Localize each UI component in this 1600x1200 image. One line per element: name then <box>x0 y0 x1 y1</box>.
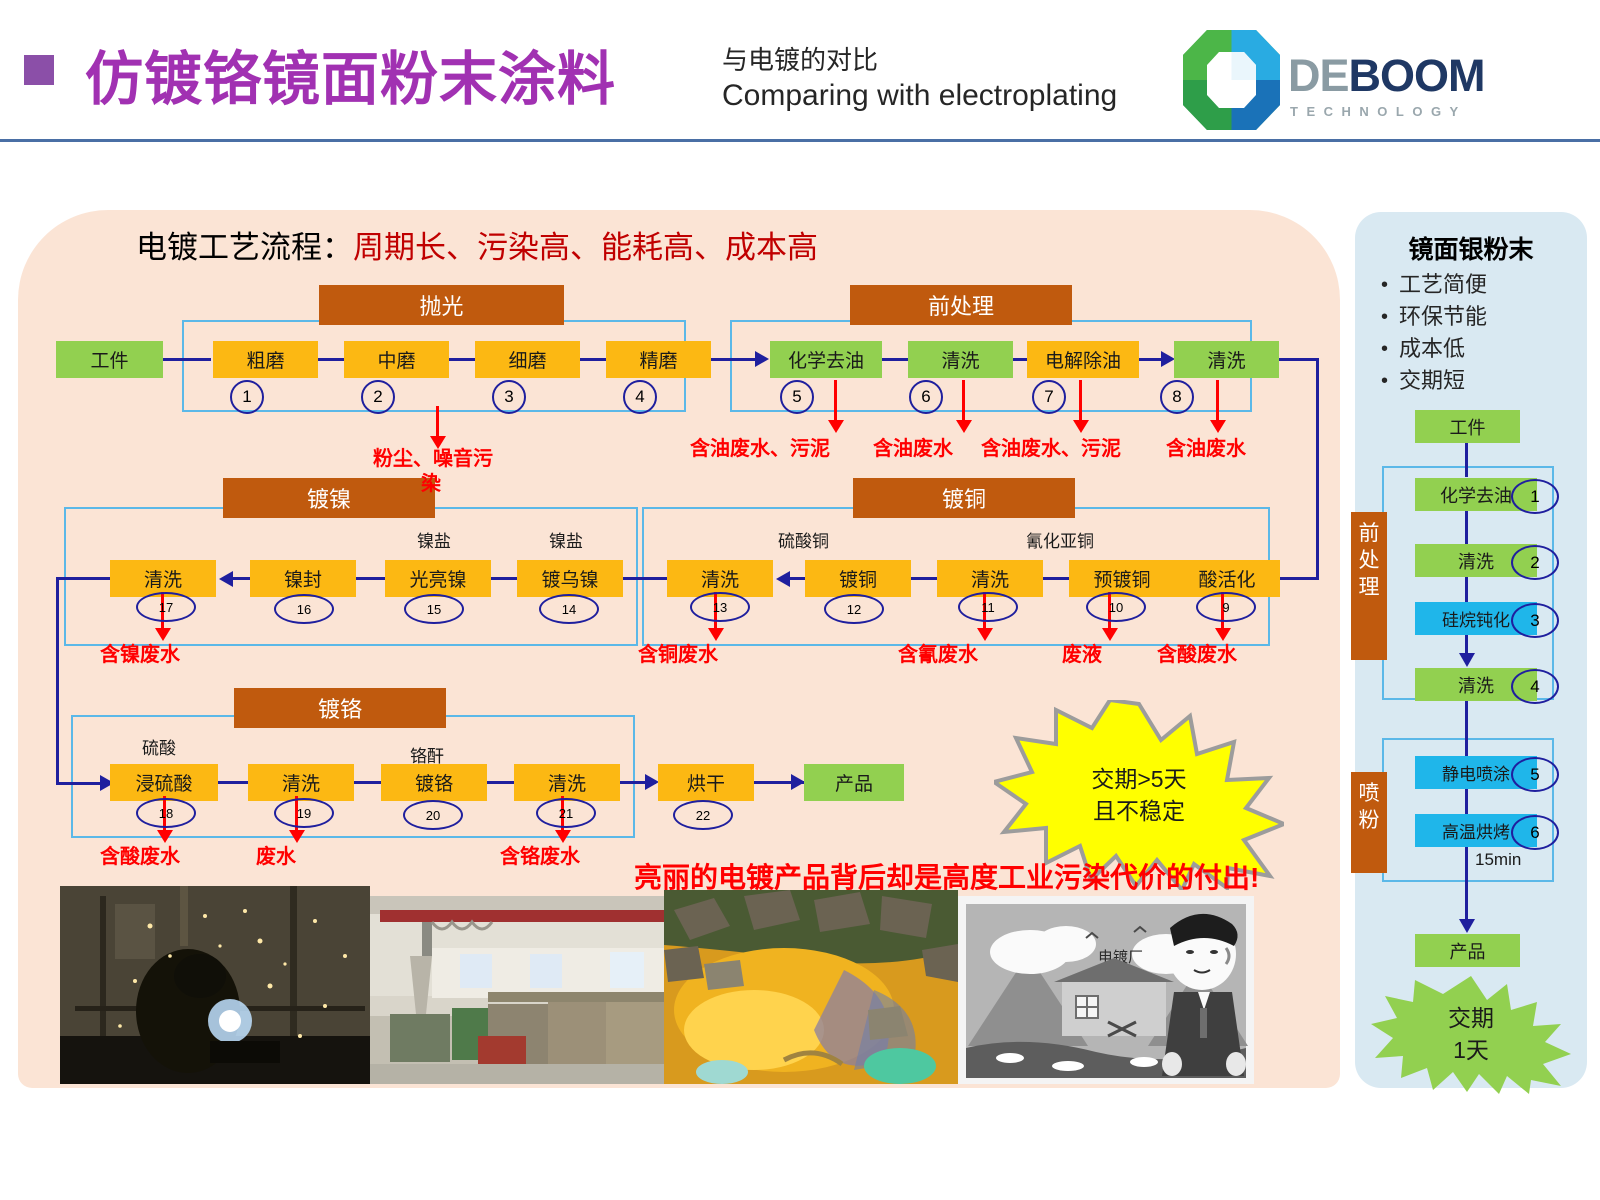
slide-header: 仿镀铬镜面粉末涂料 与电镀的对比 Comparing with electrop… <box>0 0 1600 143</box>
list-item: •环保节能 <box>1381 302 1581 332</box>
bullet-icon: • <box>1381 334 1399 364</box>
chem-label-cuprous-cyanide: 氰化亚铜 <box>1026 527 1094 552</box>
flow-node-5[interactable]: 化学去油 <box>770 341 882 378</box>
connector-polish-to-pretreat <box>711 358 759 361</box>
sidebar-bullet-1: 环保节能 <box>1399 302 1487 332</box>
arrow-7-8 <box>1161 351 1175 367</box>
copper-group-header: 镀铜 <box>853 478 1075 518</box>
connector-10-11 <box>1043 577 1070 580</box>
sidebar-step-number-4: 4 <box>1511 669 1559 704</box>
delivery-warning-line1: 交期>5天 <box>1091 763 1186 795</box>
panel-title-red: 周期长、污染高、能耗高、成本高 <box>353 230 818 265</box>
waste-arrow-5 <box>828 420 844 433</box>
step-number-18: 18 <box>136 798 196 828</box>
bullet-icon: • <box>1381 302 1399 332</box>
sidebar-advantages-list: •工艺简便 •环保节能 •成本低 •交期短 <box>1381 270 1581 398</box>
waste-line-6 <box>962 380 965 422</box>
subtitle-block: 与电镀的对比 Comparing with electroplating <box>722 44 1117 115</box>
step-number-3: 3 <box>492 380 526 414</box>
waste-label-8: 含油废水 <box>1166 432 1246 461</box>
sidebar-bullet-0: 工艺简便 <box>1399 270 1487 300</box>
arrow-polish-to-pretreat <box>755 351 769 367</box>
step-number-6: 6 <box>909 380 943 414</box>
waste-label-11: 含氰废水 <box>898 638 978 667</box>
subtitle-chinese: 与电镀的对比 <box>722 44 1117 77</box>
sb-connector-4-5 <box>1465 701 1468 763</box>
sb-arrow-3-4 <box>1459 653 1475 667</box>
list-item: •工艺简便 <box>1381 270 1581 300</box>
flow-node-6[interactable]: 清洗 <box>908 341 1013 378</box>
waste-label-13: 含铜废水 <box>638 638 718 667</box>
step-number-9: 9 <box>1196 592 1256 622</box>
waste-arrow-6 <box>956 420 972 433</box>
deboom-logo: DEBOOM TECHNOLOGY <box>1183 28 1533 133</box>
list-item: •交期短 <box>1381 366 1581 396</box>
logo-de-text: DE <box>1288 50 1349 101</box>
connector-3-4 <box>580 358 606 361</box>
bullet-icon: • <box>1381 270 1399 300</box>
wrap-vert-r1 <box>1316 358 1319 580</box>
sidebar-delivery-star-line1: 交期 <box>1448 1002 1494 1034</box>
flow-node-7[interactable]: 电解除油 <box>1027 341 1139 378</box>
sidebar-step-number-3: 3 <box>1511 603 1559 638</box>
waste-label-21: 含铬废水 <box>500 840 580 869</box>
sb-connector-6-product <box>1465 847 1468 923</box>
step-number-1: 1 <box>230 380 264 414</box>
deboom-logo-mark <box>1183 30 1280 130</box>
sidebar-flow-node-workpiece[interactable]: 工件 <box>1415 410 1520 443</box>
flow-node-20[interactable]: 镀铬 <box>381 764 487 801</box>
connector-15-16 <box>356 577 386 580</box>
chem-label-sulfuric-acid: 硫酸 <box>142 734 176 759</box>
subtitle-english: Comparing with electroplating <box>722 77 1117 115</box>
welding-worker-photo <box>60 886 370 1084</box>
flow-node-19[interactable]: 清洗 <box>248 764 354 801</box>
connector-2-3 <box>449 358 475 361</box>
sidebar-bake-time-label: 15min <box>1475 850 1521 870</box>
step-number-22: 22 <box>673 800 733 830</box>
panel-title-black: 电镀工艺流程： <box>136 230 353 265</box>
flow-node-12[interactable]: 镀铜 <box>805 560 911 597</box>
logo-technology-text: TECHNOLOGY <box>1290 104 1467 119</box>
connector-20-21 <box>487 781 515 784</box>
flow-node-workpiece-start[interactable]: 工件 <box>56 341 163 378</box>
chem-label-nickel-salt-1: 镍盐 <box>417 527 451 552</box>
title-bullet-icon <box>24 55 54 85</box>
flow-node-8[interactable]: 清洗 <box>1174 341 1279 378</box>
sidebar-step-number-2: 2 <box>1511 545 1559 580</box>
waste-label-18: 含酸废水 <box>100 840 180 869</box>
connector-16-17 <box>231 577 251 580</box>
electroplating-cartoon-photo: 电镀厂 <box>958 896 1254 1084</box>
waste-line-8 <box>1216 380 1219 422</box>
waste-line-5 <box>834 380 837 422</box>
sidebar-delivery-star: 交期 1天 <box>1371 974 1571 1094</box>
header-divider <box>0 139 1600 142</box>
connector-5-6 <box>882 358 908 361</box>
sb-arrow-6-product <box>1459 919 1475 933</box>
sidebar-step-number-1: 1 <box>1511 479 1559 514</box>
wrap-bottom-r2 <box>56 782 104 785</box>
polish-group-header: 抛光 <box>319 285 564 325</box>
step-number-21: 21 <box>536 798 596 828</box>
connector-18-19 <box>218 781 250 784</box>
connector-13-14 <box>623 577 667 580</box>
flow-node-16[interactable]: 镍封 <box>250 560 356 597</box>
step-number-11: 11 <box>958 592 1018 622</box>
flow-node-3[interactable]: 细磨 <box>475 341 580 378</box>
step-number-13: 13 <box>690 592 750 622</box>
polluted-waste-ground-photo <box>664 890 958 1084</box>
sidebar-delivery-star-line2: 1天 <box>1448 1034 1494 1066</box>
plating-tanks-workshop-photo <box>370 896 664 1084</box>
waste-label-dust-2: 染 <box>421 467 441 496</box>
sidebar-pretreat-group-header: 前处理 <box>1351 512 1387 660</box>
step-number-7: 7 <box>1032 380 1066 414</box>
flow-node-21[interactable]: 清洗 <box>514 764 620 801</box>
flow-node-product[interactable]: 产品 <box>804 764 904 801</box>
sidebar-title: 镜面银粉末 <box>1355 230 1587 266</box>
connector-11-12 <box>911 577 938 580</box>
waste-label-19: 废水 <box>256 840 296 869</box>
wrap-vert-r2 <box>56 577 59 785</box>
nickel-group-header: 镀镍 <box>223 478 435 518</box>
step-number-8: 8 <box>1160 380 1194 414</box>
waste-line-7 <box>1079 380 1082 422</box>
step-number-19: 19 <box>274 798 334 828</box>
wrap-top-r2 <box>56 577 111 580</box>
sidebar-delivery-star-text: 交期 1天 <box>1448 1002 1494 1066</box>
sidebar-step-number-5: 5 <box>1511 757 1559 792</box>
waste-label-6: 含油废水 <box>873 432 953 461</box>
sb-connector-5-6 <box>1465 789 1468 816</box>
chrome-group-header: 镀铬 <box>234 688 446 728</box>
waste-line-dust <box>436 406 439 438</box>
step-number-2: 2 <box>361 380 395 414</box>
waste-label-5: 含油废水、污泥 <box>690 432 830 461</box>
panel-title: 电镀工艺流程：周期长、污染高、能耗高、成本高 <box>136 222 818 267</box>
mirror-silver-powder-panel: 镜面银粉末 •工艺简便 •环保节能 •成本低 •交期短 工件 前处理 化学去油 … <box>1355 212 1587 1088</box>
sidebar-bullet-2: 成本低 <box>1399 334 1465 364</box>
list-item: •成本低 <box>1381 334 1581 364</box>
delivery-warning-text: 交期>5天 且不稳定 <box>1091 763 1186 827</box>
connector-6-7 <box>1013 358 1027 361</box>
pretreat-group-header: 前处理 <box>850 285 1072 325</box>
bullet-icon: • <box>1381 366 1399 396</box>
waste-label-9: 含酸废水 <box>1157 638 1237 667</box>
wrap-top-r1 <box>1279 358 1319 361</box>
flow-node-4[interactable]: 精磨 <box>606 341 711 378</box>
connector-start-to-1 <box>163 358 211 361</box>
waste-label-17: 含镍废水 <box>100 638 180 667</box>
waste-label-7: 含油废水、污泥 <box>981 432 1121 461</box>
connector-12-13 <box>788 577 806 580</box>
waste-arrow-11 <box>977 628 993 641</box>
flow-node-1[interactable]: 粗磨 <box>213 341 318 378</box>
connector-1-2 <box>318 358 344 361</box>
flow-node-22[interactable]: 烘干 <box>658 764 754 801</box>
logo-wordmark: DEBOOM <box>1288 50 1485 96</box>
step-number-14: 14 <box>539 594 599 624</box>
flow-node-14[interactable]: 镀乌镍 <box>517 560 623 597</box>
step-number-4: 4 <box>623 380 657 414</box>
step-number-16: 16 <box>274 594 334 624</box>
chem-label-chromic-anhydride: 铬酐 <box>410 742 444 767</box>
sidebar-spray-group-header: 喷粉 <box>1351 772 1387 873</box>
step-number-10: 10 <box>1086 592 1146 622</box>
arrow-22-product <box>791 774 805 790</box>
chem-label-copper-sulfate: 硫酸铜 <box>778 527 829 552</box>
sb-connector-2-3 <box>1465 577 1468 604</box>
connector-14-15 <box>491 577 517 580</box>
step-number-17: 17 <box>136 592 196 622</box>
step-number-12: 12 <box>824 594 884 624</box>
connector-19-20 <box>354 781 382 784</box>
page-title: 仿镀铬镜面粉末涂料 <box>85 32 616 116</box>
waste-arrow-10 <box>1102 628 1118 641</box>
chem-label-nickel-salt-2: 镍盐 <box>549 527 583 552</box>
sb-connector-start <box>1465 443 1468 477</box>
delivery-warning-line2: 且不稳定 <box>1091 795 1186 827</box>
arrow-21-22 <box>645 774 659 790</box>
step-number-5: 5 <box>780 380 814 414</box>
sidebar-bullet-3: 交期短 <box>1399 366 1465 396</box>
flow-node-15[interactable]: 光亮镍 <box>385 560 491 597</box>
logo-boom-text: BOOM <box>1349 50 1485 101</box>
step-number-20: 20 <box>403 800 463 830</box>
waste-label-10: 废液 <box>1062 638 1102 667</box>
flow-node-2[interactable]: 中磨 <box>344 341 449 378</box>
step-number-15: 15 <box>404 594 464 624</box>
sidebar-flow-node-product[interactable]: 产品 <box>1415 934 1520 967</box>
sidebar-step-number-6: 6 <box>1511 815 1559 850</box>
